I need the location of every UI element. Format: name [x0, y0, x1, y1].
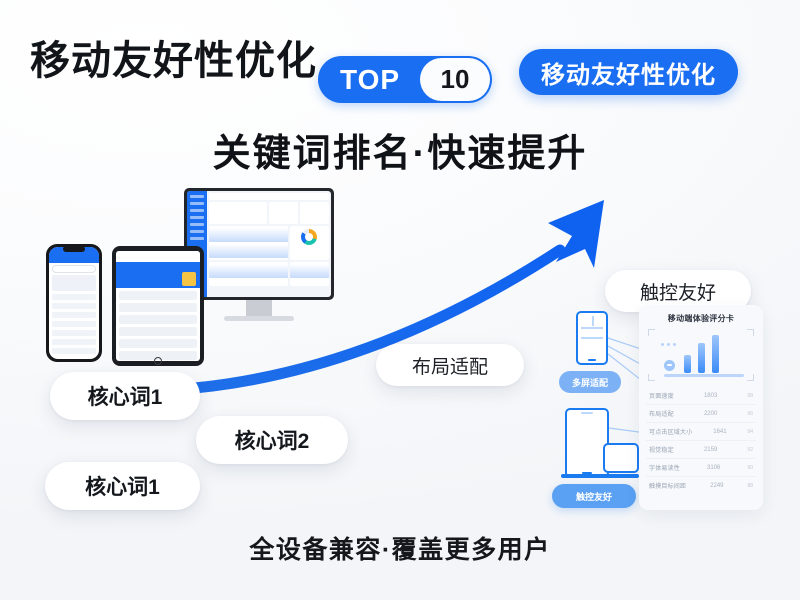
tablet-row [119, 303, 197, 312]
row-delta: 92 [747, 447, 753, 453]
table-row: 字体易读性 3106 90 [646, 459, 756, 477]
score-card-rows: 页面速度 1803 98 布局适配 2200 96 可点击区域大小 1641 9… [646, 387, 756, 494]
tablet-row [119, 327, 197, 336]
monitor-card [209, 202, 267, 224]
diagram-touch-pill: 触控友好 [552, 484, 636, 508]
score-card-chart [648, 329, 754, 381]
phone-notch [63, 246, 85, 252]
tablet-banner [116, 262, 200, 288]
table-row: 视觉稳定 2159 92 [646, 441, 756, 459]
monitor-card [290, 262, 329, 286]
monitor-stand [246, 300, 272, 316]
phone-list-item [52, 348, 96, 354]
poster-canvas: 移动友好性优化 TOP 10 移动友好性优化 关键词排名·快速提升 [0, 0, 800, 600]
tablet-home-button [154, 357, 162, 365]
row-value: 2249 [710, 483, 723, 489]
table-row: 可点击区域大小 1641 94 [646, 423, 756, 441]
multi-screen-pill: 多屏适配 [559, 371, 621, 393]
top-rank-badge: TOP 10 [318, 56, 492, 103]
phone-mockup [46, 244, 102, 362]
phone-result-card [52, 275, 96, 291]
top-badge-word: TOP [318, 64, 400, 96]
tablet-header [116, 251, 200, 261]
table-row: 页面速度 1803 98 [646, 387, 756, 405]
diagram-laptop-base [561, 474, 639, 478]
row-label: 视觉稳定 [649, 445, 674, 454]
desktop-monitor-mockup [184, 188, 334, 348]
row-label: 触摸目标间距 [649, 481, 686, 490]
row-delta: 94 [747, 429, 753, 435]
row-label: 可点击区域大小 [649, 427, 692, 436]
monitor-topbar [209, 193, 329, 200]
row-delta: 90 [747, 465, 753, 471]
phone-list-item [52, 339, 96, 345]
keyword-pill-1[interactable]: 核心词1 [50, 372, 200, 420]
page-title: 移动友好性优化 [30, 28, 317, 86]
row-label: 字体易读性 [649, 463, 680, 472]
layout-adapt-pill[interactable]: 布局适配 [376, 344, 524, 386]
phone-list-item [52, 321, 96, 327]
row-value: 2159 [704, 447, 717, 453]
score-card-title: 移动端体验评分卡 [646, 313, 756, 324]
tablet-row [119, 339, 197, 348]
monitor-donut-card [290, 226, 329, 260]
row-value: 1803 [704, 393, 717, 399]
device-mockup-group [24, 188, 334, 388]
table-row: 布局适配 2200 96 [646, 405, 756, 423]
phone-list-item [52, 303, 96, 309]
top-badge-number: 10 [420, 58, 490, 101]
device-connection-diagram: 多屏适配 触控友好 [548, 308, 643, 513]
score-card-panel: 移动端体验评分卡 页面速度 1803 98 布局适配 2200 96 [639, 305, 763, 510]
phone-list-item [52, 294, 96, 300]
phone-list-item [52, 312, 96, 318]
row-label: 布局适配 [649, 409, 674, 418]
diagram-phone-small [576, 311, 608, 365]
monitor-card [300, 202, 329, 224]
footer-tagline: 全设备兼容·覆盖更多用户 [0, 530, 800, 566]
row-value: 1641 [713, 429, 726, 435]
donut-chart-icon [301, 229, 317, 245]
monitor-base [224, 316, 294, 321]
row-delta: 88 [747, 483, 753, 489]
phone-search-bar [52, 265, 96, 273]
diagram-laptop [603, 443, 639, 473]
row-value: 2200 [704, 411, 717, 417]
row-delta: 98 [747, 393, 753, 399]
header-tag-pill: 移动友好性优化 [519, 49, 738, 95]
monitor-card [209, 226, 288, 260]
table-row: 触摸目标间距 2249 88 [646, 477, 756, 494]
tablet-row [119, 291, 197, 300]
phone-list-item [52, 330, 96, 336]
monitor-screen [184, 188, 334, 300]
monitor-card [269, 202, 298, 224]
keyword-pill-2[interactable]: 核心词2 [196, 416, 348, 464]
tablet-row [119, 315, 197, 324]
row-label: 页面速度 [649, 391, 674, 400]
tablet-mockup [112, 246, 204, 366]
monitor-card [209, 262, 288, 286]
keyword-pill-3[interactable]: 核心词1 [45, 462, 200, 510]
row-delta: 96 [747, 411, 753, 417]
row-value: 3106 [707, 465, 720, 471]
